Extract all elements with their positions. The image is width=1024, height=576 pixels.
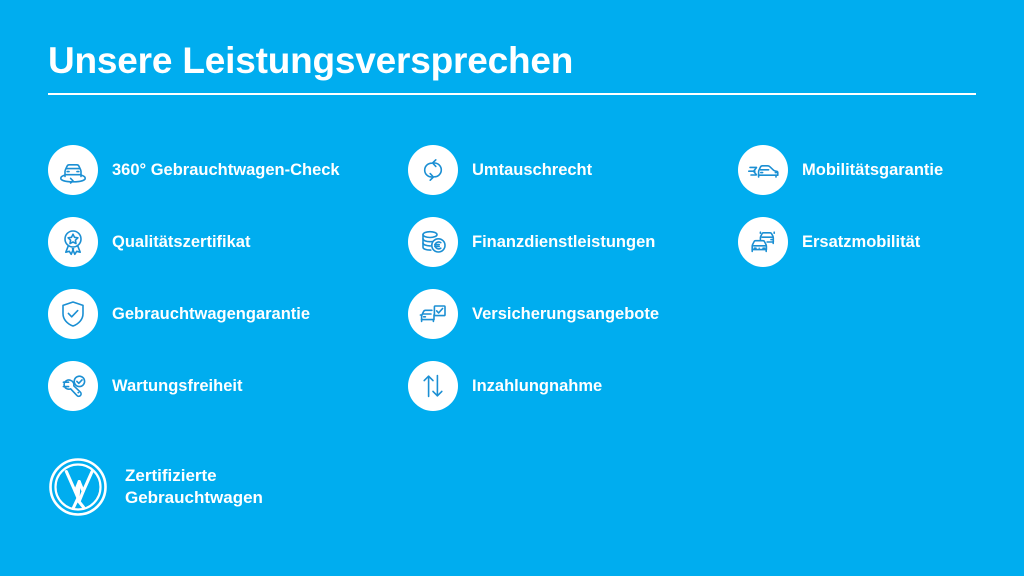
page-title: Unsere Leistungsversprechen (48, 38, 976, 84)
header: Unsere Leistungsversprechen (48, 38, 976, 95)
brand-line-2: Gebrauchtwagen (125, 487, 263, 509)
shield-check-icon (48, 289, 98, 339)
feature-item-trade-in[interactable]: Inzahlungnahme (408, 361, 728, 411)
car-360-check-icon (48, 145, 98, 195)
wrench-check-icon (48, 361, 98, 411)
slide-root: Unsere Leistungsversprechen 360° Gebrauc… (0, 0, 1024, 576)
feature-label: Mobilitätsgarantie (802, 160, 943, 180)
feature-item-exchange-right[interactable]: Umtauschrecht (408, 145, 728, 195)
two-cars-icon (738, 217, 788, 267)
feature-item-warranty[interactable]: Gebrauchtwagengarantie (48, 289, 393, 339)
feature-item-360-check[interactable]: 360° Gebrauchtwagen-Check (48, 145, 393, 195)
feature-item-replacement-mobility[interactable]: Ersatzmobilität (738, 217, 1018, 267)
feature-label: Umtauschrecht (472, 160, 592, 180)
brand-text: Zertifizierte Gebrauchtwagen (125, 465, 263, 509)
brand-line-1: Zertifizierte (125, 465, 263, 487)
feature-column-1: 360° Gebrauchtwagen-Check Qualitätszerti… (48, 145, 393, 411)
feature-label: Finanzdienstleistungen (472, 232, 655, 252)
feature-label: Inzahlungnahme (472, 376, 602, 396)
brand-lockup: Zertifizierte Gebrauchtwagen (48, 457, 263, 517)
feature-column-3: Mobilitätsgarantie (738, 145, 1018, 267)
car-motion-icon (738, 145, 788, 195)
arrows-up-down-icon (408, 361, 458, 411)
exchange-arrows-icon (408, 145, 458, 195)
feature-item-quality-certificate[interactable]: Qualitätszertifikat (48, 217, 393, 267)
feature-label: Ersatzmobilität (802, 232, 920, 252)
feature-label: Wartungsfreiheit (112, 376, 242, 396)
coins-euro-icon (408, 217, 458, 267)
volkswagen-logo (48, 457, 108, 517)
feature-item-maintenance-free[interactable]: Wartungsfreiheit (48, 361, 393, 411)
feature-item-mobility-guarantee[interactable]: Mobilitätsgarantie (738, 145, 1018, 195)
feature-label: Gebrauchtwagengarantie (112, 304, 310, 324)
feature-item-financial-services[interactable]: Finanzdienstleistungen (408, 217, 728, 267)
award-rosette-icon (48, 217, 98, 267)
feature-item-insurance-offers[interactable]: Versicherungsangebote (408, 289, 728, 339)
car-document-check-icon (408, 289, 458, 339)
feature-label: Versicherungsangebote (472, 304, 659, 324)
feature-label: Qualitätszertifikat (112, 232, 250, 252)
feature-label: 360° Gebrauchtwagen-Check (112, 160, 340, 180)
title-divider (48, 93, 976, 95)
feature-column-2: Umtauschrecht Finanzdienstleistungen (408, 145, 728, 411)
